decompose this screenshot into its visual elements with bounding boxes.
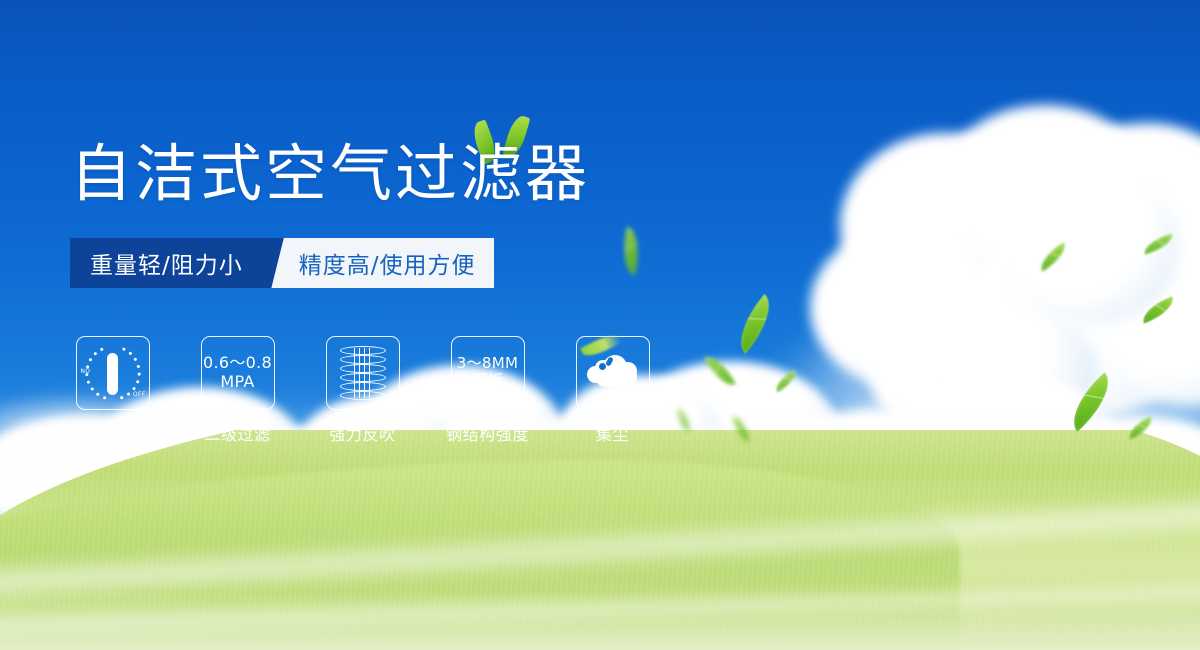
feature-label: 强力反吹 xyxy=(329,421,395,445)
filter-stack-icon xyxy=(340,346,386,400)
tagline-left: 重量轻/阻力小 xyxy=(70,238,265,288)
pressure-unit: MPA xyxy=(203,373,272,392)
page-title: 自洁式空气过滤器 xyxy=(70,143,590,205)
tagline-right: 精度高/使用方便 xyxy=(293,238,494,288)
feature-icon-box xyxy=(326,336,400,410)
feature-label: 二级过滤 xyxy=(204,421,270,445)
steel-text-icon: 3～8MM 钢板 xyxy=(457,355,518,392)
feature-item-controller[interactable]: NO OFF xyxy=(70,336,155,445)
pressure-text-icon: 0.6～0.8 MPA xyxy=(203,354,272,392)
feature-item-two-stage-filter[interactable]: 0.6～0.8 MPA 二级过滤 xyxy=(195,336,280,445)
steel-thickness: 3～8MM xyxy=(457,355,518,373)
feature-item-reverse-blow[interactable]: 强力反吹 xyxy=(320,336,405,445)
feature-icon-box: NO OFF xyxy=(76,336,150,410)
feature-icon-box: 0.6～0.8 MPA xyxy=(201,336,275,410)
feature-label: 集尘 xyxy=(596,421,629,445)
dial-label-off: OFF xyxy=(133,391,146,398)
feature-icon-box: Air xyxy=(576,336,650,410)
tagline-divider xyxy=(265,238,293,288)
feature-item-dust-collection[interactable]: Air 集尘 xyxy=(570,336,655,445)
feature-list: NO OFF xyxy=(70,336,655,445)
product-banner: 自洁式空气过滤器 重量轻/阻力小 精度高/使用方便 NO OFF xyxy=(0,0,1200,650)
pressure-value: 0.6～0.8 xyxy=(203,354,272,373)
feature-label: 控制仪 xyxy=(88,421,138,445)
feature-item-steel-strength[interactable]: 3～8MM 钢板 钢结构强度 xyxy=(445,336,530,445)
cloud-air-icon: Air xyxy=(585,351,641,395)
air-label: Air xyxy=(585,394,641,407)
feature-icon-box: 3～8MM 钢板 xyxy=(451,336,525,410)
dial-gauge-icon: NO OFF xyxy=(82,344,144,402)
banner-content: 自洁式空气过滤器 重量轻/阻力小 精度高/使用方便 NO OFF xyxy=(0,0,1200,650)
feature-label: 钢结构强度 xyxy=(446,421,529,445)
steel-material: 钢板 xyxy=(457,372,518,391)
tagline-bar: 重量轻/阻力小 精度高/使用方便 xyxy=(70,238,494,288)
